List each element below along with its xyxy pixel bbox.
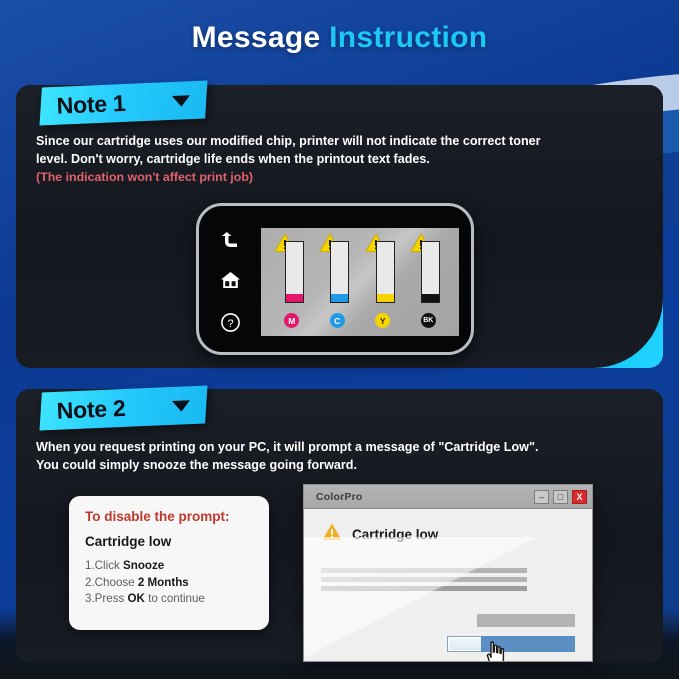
dialog-title-bar[interactable]: ColorPro – □ X bbox=[304, 485, 592, 509]
toner-bar-cyan bbox=[330, 241, 349, 303]
dialog-secondary-placeholder[interactable] bbox=[477, 614, 575, 627]
printer-nav-icons: ? bbox=[211, 220, 249, 344]
hand-pointer-cursor bbox=[484, 640, 508, 662]
toner-bar-magenta bbox=[285, 241, 304, 303]
placeholder-line bbox=[321, 586, 527, 591]
toner-fill-black bbox=[422, 294, 439, 302]
chevron-down-icon bbox=[172, 400, 191, 412]
printer-lcd-screen: M C bbox=[261, 228, 459, 336]
howto-step-num: 2. bbox=[85, 576, 95, 589]
howto-title: To disable the prompt: bbox=[85, 509, 253, 524]
chevron-down-icon bbox=[172, 95, 191, 107]
svg-text:?: ? bbox=[227, 318, 233, 330]
toner-bar-yellow bbox=[376, 241, 395, 303]
back-arrow-icon[interactable] bbox=[219, 231, 241, 249]
toner-fill-magenta bbox=[286, 294, 303, 302]
note2-tab[interactable]: Note 2 bbox=[40, 386, 208, 431]
dialog-message-row: Cartridge low bbox=[304, 509, 592, 547]
dialog-placeholder-lines bbox=[321, 568, 527, 595]
note1-body: Since our cartridge uses our modified ch… bbox=[36, 132, 659, 187]
maximize-button[interactable]: □ bbox=[553, 490, 568, 504]
toner-level-gauges: M C bbox=[261, 228, 459, 336]
howto-step-bold: 2 Months bbox=[138, 576, 189, 589]
howto-step-num: 1. bbox=[85, 559, 95, 572]
howto-step-text: Press bbox=[95, 592, 128, 605]
toner-chip-black: BK bbox=[421, 313, 436, 328]
home-icon[interactable] bbox=[219, 270, 242, 290]
note1-body-line2: level. Don't worry, cartridge life ends … bbox=[36, 150, 659, 168]
note1-tab[interactable]: Note 1 bbox=[40, 81, 208, 126]
toner-bar-black bbox=[421, 241, 440, 303]
warning-triangle-icon bbox=[321, 522, 343, 547]
toner-fill-cyan bbox=[331, 294, 348, 302]
toner-fill-yellow bbox=[377, 294, 394, 302]
note2-body: When you request printing on your PC, it… bbox=[36, 438, 659, 474]
howto-step-bold: Snooze bbox=[123, 559, 164, 572]
toner-gauge: BK bbox=[411, 233, 445, 328]
printer-control-panel: ? M bbox=[196, 203, 474, 355]
howto-step-num: 3. bbox=[85, 592, 95, 605]
dialog-body: Cartridge low OK bbox=[304, 509, 592, 662]
minimize-button[interactable]: – bbox=[534, 490, 549, 504]
page-title: Message Instruction bbox=[0, 21, 679, 55]
poster-page: Message Instruction Note 1 Since our car… bbox=[0, 0, 679, 679]
page-title-part2: Instruction bbox=[329, 21, 487, 54]
close-button[interactable]: X bbox=[572, 490, 587, 504]
dialog-window-title: ColorPro bbox=[316, 491, 363, 503]
howto-step-tail: to continue bbox=[145, 592, 205, 605]
toner-gauge: Y bbox=[366, 233, 400, 328]
howto-step-text: Choose bbox=[95, 576, 138, 589]
toner-chip-magenta: M bbox=[284, 313, 299, 328]
note1-red-note: (The indication won't affect print job) bbox=[36, 168, 659, 187]
disable-prompt-card: To disable the prompt: Cartridge low 1.C… bbox=[69, 496, 269, 630]
note2-tab-label: Note 2 bbox=[56, 394, 126, 424]
howto-step: 1.Click Snooze bbox=[85, 558, 253, 575]
placeholder-line bbox=[321, 568, 527, 573]
window-controls: – □ X bbox=[534, 490, 587, 504]
howto-step-bold: OK bbox=[128, 592, 145, 605]
cartridge-low-dialog: ColorPro – □ X Cartridge low OK bbox=[303, 484, 593, 662]
howto-step-text: Click bbox=[95, 559, 123, 572]
help-icon[interactable]: ? bbox=[220, 312, 241, 333]
note1-tab-label: Note 1 bbox=[56, 89, 126, 119]
toner-chip-cyan: C bbox=[330, 313, 345, 328]
note1-body-line1: Since our cartridge uses our modified ch… bbox=[36, 132, 659, 150]
placeholder-line bbox=[321, 577, 527, 582]
howto-subtitle: Cartridge low bbox=[85, 534, 253, 549]
toner-chip-yellow: Y bbox=[375, 313, 390, 328]
note2-body-line1: When you request printing on your PC, it… bbox=[36, 438, 659, 456]
howto-step: 2.Choose 2 Months bbox=[85, 575, 253, 592]
toner-gauge: M bbox=[275, 233, 309, 328]
toner-gauge: C bbox=[320, 233, 354, 328]
page-title-part1: Message bbox=[192, 21, 321, 54]
note2-body-line2: You could simply snooze the message goin… bbox=[36, 456, 659, 474]
howto-step: 3.Press OK to continue bbox=[85, 591, 253, 608]
dialog-message-text: Cartridge low bbox=[352, 527, 438, 542]
